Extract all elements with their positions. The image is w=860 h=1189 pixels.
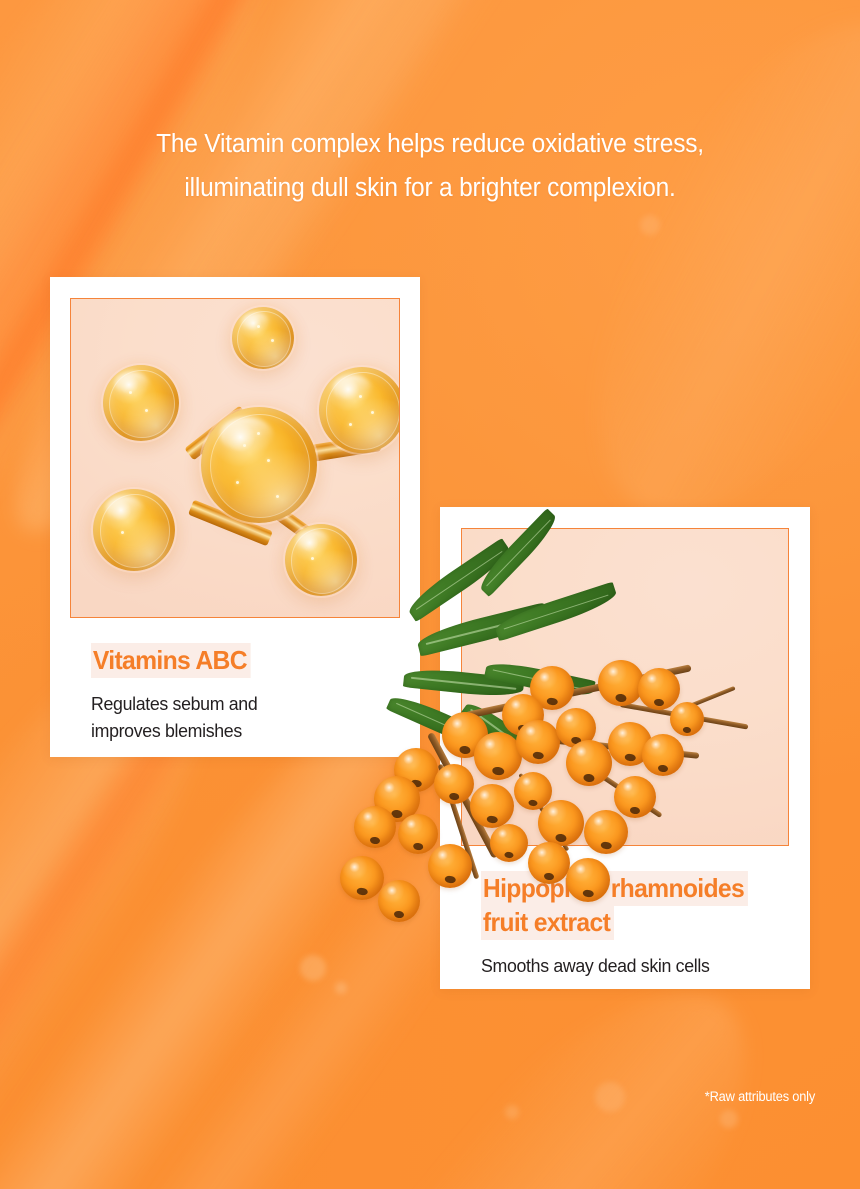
ingredient-title: Vitamins ABC — [91, 643, 251, 678]
ingredient-description-line-1: Smooths away dead skin cells — [481, 952, 797, 979]
headline-line-1: The Vitamin complex helps reduce oxidati… — [17, 122, 843, 166]
card-text-hippophae-rhamnoides: Hippophae rhamnoides fruit extract Smoot… — [481, 871, 810, 979]
card-text-vitamins-abc: Vitamins ABC Regulates sebum and improve… — [91, 643, 264, 744]
headline: The Vitamin complex helps reduce oxidati… — [17, 122, 843, 210]
ingredient-card-vitamins-abc[interactable]: Vitamins ABC Regulates sebum and improve… — [50, 277, 420, 757]
footnote: *Raw attributes only — [705, 1089, 815, 1104]
headline-line-2: illuminating dull skin for a brighter co… — [17, 166, 843, 210]
ingredient-description: Regulates sebum and improves blemishes — [91, 690, 257, 744]
sea-buckthorn-frame — [461, 528, 789, 846]
molecule-illustration — [70, 298, 400, 618]
ingredient-description-line-1: Regulates sebum and — [91, 690, 257, 717]
ingredient-description: Smooths away dead skin cells — [481, 952, 797, 979]
ingredient-description-line-2: improves blemishes — [91, 717, 257, 744]
infographic-page: The Vitamin complex helps reduce oxidati… — [0, 0, 860, 1189]
ingredient-title: Hippophae rhamnoides fruit extract — [481, 871, 748, 940]
ingredient-card-hippophae-rhamnoides[interactable]: Hippophae rhamnoides fruit extract Smoot… — [440, 507, 810, 989]
